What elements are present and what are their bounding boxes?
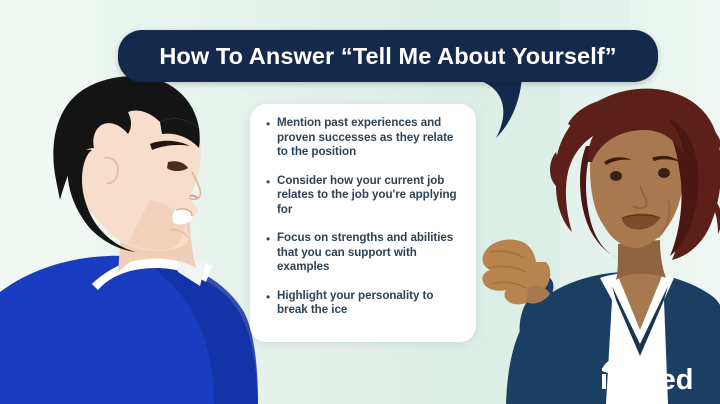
list-item: • Mention past experiences and proven su… (266, 116, 464, 160)
page-title: How To Answer “Tell Me About Yourself” (159, 43, 616, 70)
indeed-logo: indeed (598, 358, 702, 396)
list-item: • Highlight your personality to break th… (266, 289, 464, 318)
speech-bubble-tail (470, 72, 570, 144)
bullet-dot-icon: • (266, 116, 277, 160)
list-item-text: Mention past experiences and proven succ… (277, 116, 464, 160)
man-figure (0, 76, 258, 404)
title-banner: How To Answer “Tell Me About Yourself” (118, 30, 658, 82)
list-item-text: Focus on strengths and abilities that yo… (277, 231, 464, 275)
tips-card: • Mention past experiences and proven su… (250, 104, 476, 342)
bullet-dot-icon: • (266, 289, 277, 318)
bullet-dot-icon: • (266, 174, 277, 218)
list-item-text: Highlight your personality to break the … (277, 289, 464, 318)
indeed-logo-text: indeed (600, 364, 693, 396)
bullet-dot-icon: • (266, 231, 277, 275)
list-item-text: Consider how your current job relates to… (277, 174, 464, 218)
infographic-banner: How To Answer “Tell Me About Yourself” •… (0, 0, 720, 404)
list-item: • Focus on strengths and abilities that … (266, 231, 464, 275)
tips-list: • Mention past experiences and proven su… (266, 116, 464, 318)
list-item: • Consider how your current job relates … (266, 174, 464, 218)
